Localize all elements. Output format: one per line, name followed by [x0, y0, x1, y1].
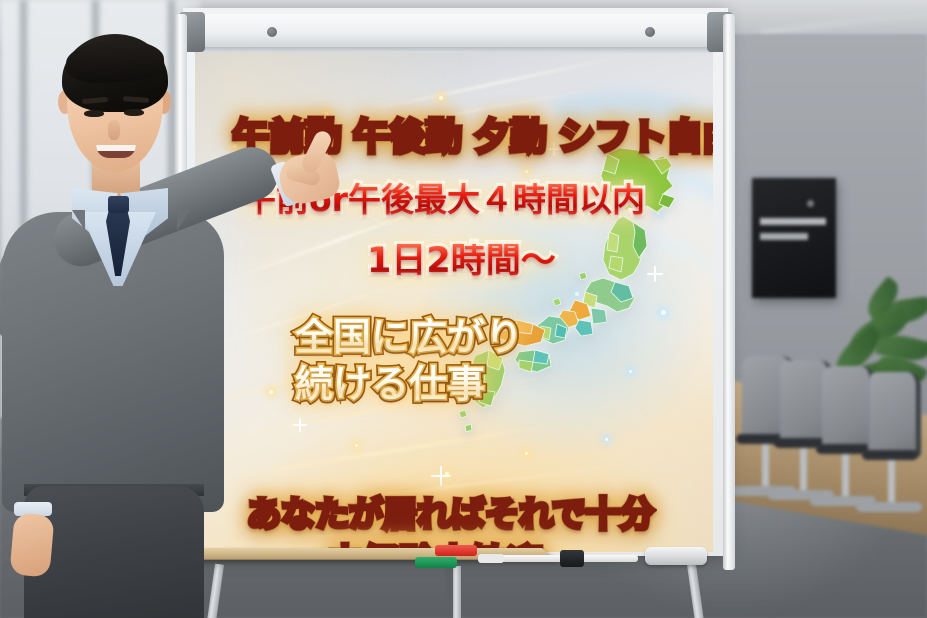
resting-hand — [9, 512, 54, 577]
whiteboard: 午前勤 午後勤 夕勤 シフト自由 午前勤 午後勤 夕勤 シフト自由 午前or午後… — [183, 8, 728, 560]
whiteboard-leg-center — [453, 566, 461, 618]
text-line-3: 1日2時間～ — [195, 244, 556, 279]
rail-knob-right[interactable] — [645, 27, 655, 37]
necktie-knot — [108, 196, 129, 213]
eye-left — [84, 110, 104, 117]
whiteboard-eraser[interactable] — [645, 547, 707, 565]
marker-red[interactable] — [435, 545, 477, 556]
wall-sign-text-line1 — [760, 218, 826, 225]
eye-right — [124, 109, 144, 116]
marker-green[interactable] — [415, 557, 457, 568]
wall-sign-text-line2 — [760, 233, 808, 240]
marker-thin-cap[interactable] — [478, 554, 504, 563]
nose — [108, 120, 120, 140]
whiteboard-text: 午前勤 午後勤 夕勤 シフト自由 午前勤 午後勤 夕勤 シフト自由 午前or午後… — [195, 52, 713, 552]
text-line-4: 全国に広がり — [195, 318, 523, 356]
banner-stage: 午前勤 午後勤 夕勤 シフト自由 午前勤 午後勤 夕勤 シフト自由 午前or午後… — [0, 0, 927, 618]
presenter — [0, 16, 244, 618]
marker-black[interactable] — [560, 550, 584, 567]
text-line-1: 午前勤 午後勤 夕勤 シフト自由 — [195, 120, 713, 156]
wall-sign-logo-dot — [807, 200, 814, 207]
text-line-6: あなたが居ればそれで十分 — [195, 498, 654, 532]
rail-knob-left[interactable] — [267, 27, 277, 37]
pointing-hand — [280, 132, 348, 202]
whiteboard-rail-shadow — [197, 47, 711, 53]
frame-post-right — [723, 14, 735, 570]
whiteboard-surface: 午前勤 午後勤 夕勤 シフト自由 午前勤 午後勤 夕勤 シフト自由 午前or午後… — [195, 52, 713, 552]
whiteboard-frame: 午前勤 午後勤 夕勤 シフト自由 午前勤 午後勤 夕勤 シフト自由 午前or午後… — [183, 8, 728, 556]
